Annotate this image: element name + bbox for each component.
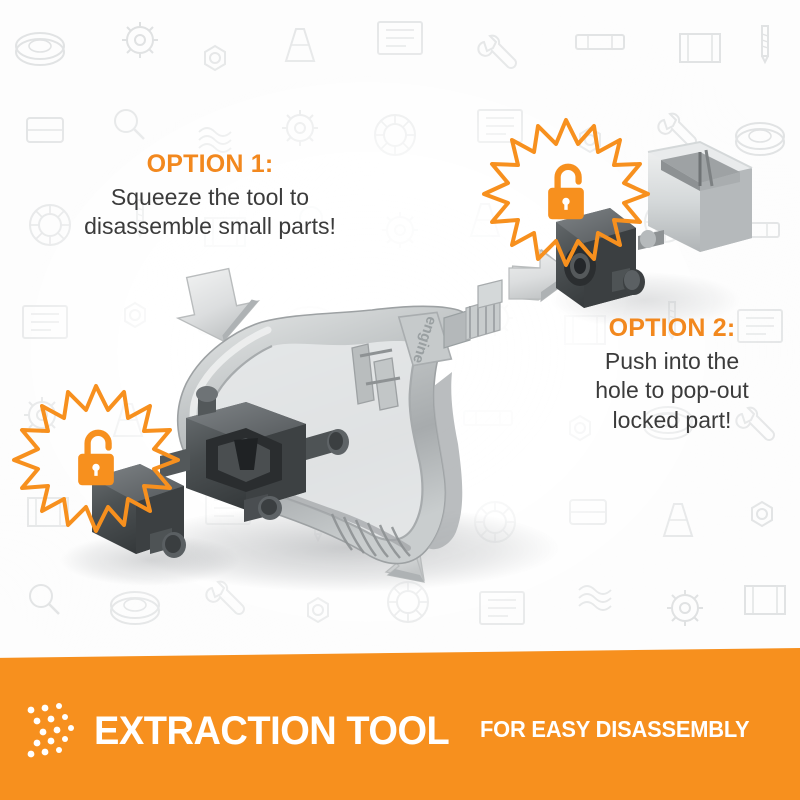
bottom-banner: EXTRACTION TOOL FOR EASY DISASSEMBLY	[0, 648, 800, 800]
option-1-heading: OPTION 1:	[40, 148, 380, 181]
banner-subtitle: FOR EASY DISASSEMBLY	[480, 716, 749, 746]
option-1-line-2: disassemble small parts!	[40, 212, 380, 242]
unlock-icon	[78, 433, 114, 486]
option-2-heading: OPTION 2:	[552, 312, 792, 345]
dot-chevron-logo	[24, 701, 82, 761]
option-1-line-1: Squeeze the tool to	[40, 183, 380, 213]
callout-option-1: OPTION 1: Squeeze the tool to disassembl…	[40, 148, 380, 242]
banner-content: EXTRACTION TOOL FOR EASY DISASSEMBLY	[0, 700, 800, 762]
callout-option-2: OPTION 2: Push into the hole to pop-out …	[552, 312, 792, 436]
option-2-line-3: locked part!	[552, 406, 792, 436]
banner-title: EXTRACTION TOOL	[94, 709, 449, 754]
option-2-line-1: Push into the	[552, 347, 792, 377]
option-2-line-2: hole to pop-out	[552, 376, 792, 406]
unlock-icon	[548, 167, 584, 220]
infographic-canvas: engine	[0, 0, 800, 800]
